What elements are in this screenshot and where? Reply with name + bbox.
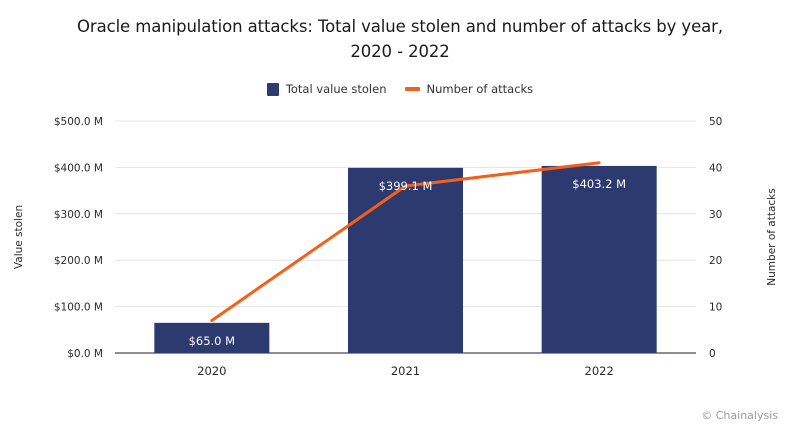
chart-title-line-1: Oracle manipulation attacks: Total value…: [77, 17, 723, 36]
x-axis-label-2022: 2022: [585, 364, 614, 378]
y-axis-right-tick-label: 10: [709, 302, 722, 314]
y-axis-left-tick-label: $0.0 M: [67, 348, 103, 360]
bar-label-2020: $65.0 M: [189, 334, 236, 348]
y-axis-left-tick-label: $100.0 M: [54, 302, 103, 314]
legend-label-total-value-stolen: Total value stolen: [286, 82, 387, 96]
y-axis-right-ticks: 01020304050: [709, 116, 722, 360]
bar-2022[interactable]: [542, 166, 657, 353]
y-axis-left-ticks: $0.0 M$100.0 M$200.0 M$300.0 M$400.0 M$5…: [54, 116, 103, 360]
y-axis-right-tick-label: 30: [709, 209, 722, 221]
chart-container: Oracle manipulation attacks: Total value…: [0, 0, 800, 436]
bar-label-2021: $399.1 M: [379, 179, 433, 193]
legend-label-number-of-attacks: Number of attacks: [427, 82, 534, 96]
bar-series: [154, 166, 656, 353]
chart-title-line-2: 2020 - 2022: [350, 42, 449, 61]
y-axis-left-tick-label: $400.0 M: [54, 162, 103, 174]
y-axis-right-tick-label: 0: [709, 348, 716, 360]
legend-bar-swatch-icon: [267, 83, 279, 96]
chart-plot-area: $0.0 M$100.0 M$200.0 M$300.0 M$400.0 M$5…: [0, 104, 800, 394]
legend-item-total-value-stolen[interactable]: Total value stolen: [267, 82, 387, 96]
y-axis-right-tick-label: 40: [709, 162, 722, 174]
x-axis-label-2021: 2021: [391, 364, 420, 378]
y-axis-left-tick-label: $500.0 M: [54, 116, 103, 128]
y-axis-right-tick-label: 50: [709, 116, 722, 128]
y-axis-left-title: Value stolen: [13, 205, 25, 269]
chart-legend: Total value stolen Number of attacks: [0, 82, 800, 96]
legend-item-number-of-attacks[interactable]: Number of attacks: [405, 82, 534, 96]
x-axis-category-labels: 202020212022: [197, 364, 614, 378]
y-axis-left-tick-label: $300.0 M: [54, 209, 103, 221]
y-axis-right-tick-label: 20: [709, 255, 722, 267]
y-axis-right-title: Number of attacks: [766, 188, 778, 285]
y-axis-left-tick-label: $200.0 M: [54, 255, 103, 267]
bar-label-2022: $403.2 M: [572, 177, 626, 191]
bar-2021[interactable]: [348, 168, 463, 353]
legend-line-swatch-icon: [405, 87, 420, 91]
x-axis-label-2020: 2020: [197, 364, 226, 378]
chart-title: Oracle manipulation attacks: Total value…: [24, 14, 776, 64]
credit-text: © Chainalysis: [701, 409, 778, 422]
